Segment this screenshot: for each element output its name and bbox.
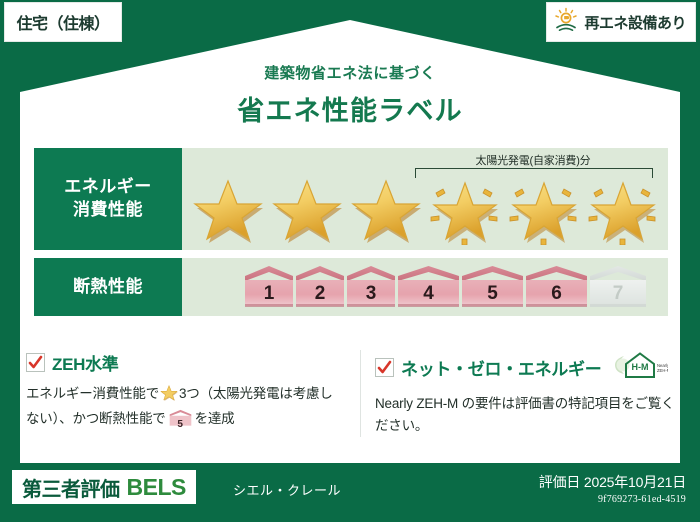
star-4-solar (425, 172, 504, 246)
house-type-badge-label: 住宅（住棟） (16, 10, 109, 34)
insulation-grade-1: 1 (244, 264, 294, 310)
label-subtitle: 建築物省エネ法に基づく (0, 62, 700, 83)
zeh-standard-panel: ZEH水準 エネルギー消費性能で3つ（太陽光発電は考慮しない）、かつ断熱性能で5… (26, 350, 360, 437)
net-zero-checkbox[interactable] (375, 358, 394, 377)
solar-sun-icon (553, 7, 579, 38)
insulation-grade-5: 5 (461, 264, 524, 310)
house-type-badge: 住宅（住棟） (4, 2, 122, 42)
insulation-grade-2-value: 2 (295, 283, 345, 305)
star-5-solar (504, 172, 583, 246)
label-footer: 第三者評価 BELS シエル・クレール 評価日 2025年10月21日 9f76… (0, 464, 700, 522)
insulation-grade-6-value: 6 (525, 283, 588, 305)
zeh-m-logo-icon: H-M Nearly ZEH-M (610, 350, 668, 385)
metrics-section: エネルギー 消費性能 太陽光発電(自家消費)分 (34, 148, 668, 324)
zeh-standard-header: ZEH水準 (26, 350, 344, 375)
checkmark-icon (377, 360, 392, 375)
inline-insulation-grade: 5 (168, 409, 193, 434)
svg-text:H-M: H-M (632, 362, 649, 372)
insulation-grade-7: 7 (589, 264, 647, 310)
renewable-equipment-badge: 再エネ設備あり (546, 2, 696, 42)
inline-star-icon (160, 389, 178, 404)
zeh-checkbox[interactable] (26, 353, 45, 372)
net-zero-energy-header: ネット・ゼロ・エネルギー H-M Nearly ZEH-M (375, 350, 676, 385)
net-zero-energy-panel: ネット・ゼロ・エネルギー H-M Nearly ZEH-M N (360, 350, 676, 437)
label-title: 省エネ性能ラベル (0, 89, 700, 128)
net-zero-energy-title: ネット・ゼロ・エネルギー (401, 355, 601, 380)
building-name: シエル・クレール (233, 480, 341, 499)
insulation-grade-6: 6 (525, 264, 588, 310)
svg-text:ZEH-M: ZEH-M (657, 368, 668, 373)
insulation-grade-7-value: 7 (589, 283, 647, 305)
evaluation-info: 評価日 2025年10月21日 9f769273-61ed-4519 (539, 472, 686, 505)
energy-performance-row-label: エネルギー 消費性能 (34, 148, 182, 250)
criteria-panels: ZEH水準 エネルギー消費性能で3つ（太陽光発電は考慮しない）、かつ断熱性能で5… (26, 350, 676, 437)
insulation-grades-area: 1 2 (182, 258, 668, 316)
star-6-solar (583, 172, 662, 246)
bels-en-label: BELS (127, 474, 186, 501)
insulation-grade-2: 2 (295, 264, 345, 310)
insulation-grade-5-value: 5 (461, 283, 524, 305)
bels-certification-badge: 第三者評価 BELS (12, 470, 196, 504)
evaluation-date: 評価日 2025年10月21日 (539, 472, 686, 492)
star-3 (346, 172, 425, 246)
insulation-performance-row: 断熱性能 (34, 258, 668, 316)
solar-contribution-note: 太陽光発電(自家消費)分 (413, 152, 653, 168)
bels-jp-label: 第三者評価 (22, 473, 120, 502)
checkmark-icon (28, 355, 43, 370)
energy-performance-row: エネルギー 消費性能 太陽光発電(自家消費)分 (34, 148, 668, 250)
energy-performance-stars-area: 太陽光発電(自家消費)分 (182, 148, 668, 250)
label-title-block: 建築物省エネ法に基づく 省エネ性能ラベル (0, 62, 700, 128)
renewable-equipment-label: 再エネ設備あり (584, 12, 686, 33)
evaluation-id: 9f769273-61ed-4519 (539, 494, 686, 505)
insulation-grade-4: 4 (397, 264, 460, 310)
zeh-standard-title: ZEH水準 (52, 350, 119, 375)
insulation-grade-4-value: 4 (397, 283, 460, 305)
inline-insulation-grade-value: 5 (168, 417, 193, 433)
star-2 (267, 172, 346, 246)
zeh-standard-description: エネルギー消費性能で3つ（太陽光発電は考慮しない）、かつ断熱性能で5を達成 (26, 383, 344, 434)
star-rating (188, 172, 662, 246)
net-zero-energy-description: Nearly ZEH-M の要件は評価書の特記項目をご覧ください。 (375, 393, 676, 437)
star-1 (188, 172, 267, 246)
insulation-grade-3: 3 (346, 264, 396, 310)
insulation-grade-3-value: 3 (346, 283, 396, 305)
insulation-grade-scale: 1 2 (244, 264, 647, 310)
energy-performance-label: 住宅（住棟） 再エネ設備あり 建築物省エネ法に基づく 省エネ性能ラベル (0, 0, 700, 522)
insulation-grade-1-value: 1 (244, 283, 294, 305)
insulation-performance-row-label: 断熱性能 (34, 258, 182, 316)
